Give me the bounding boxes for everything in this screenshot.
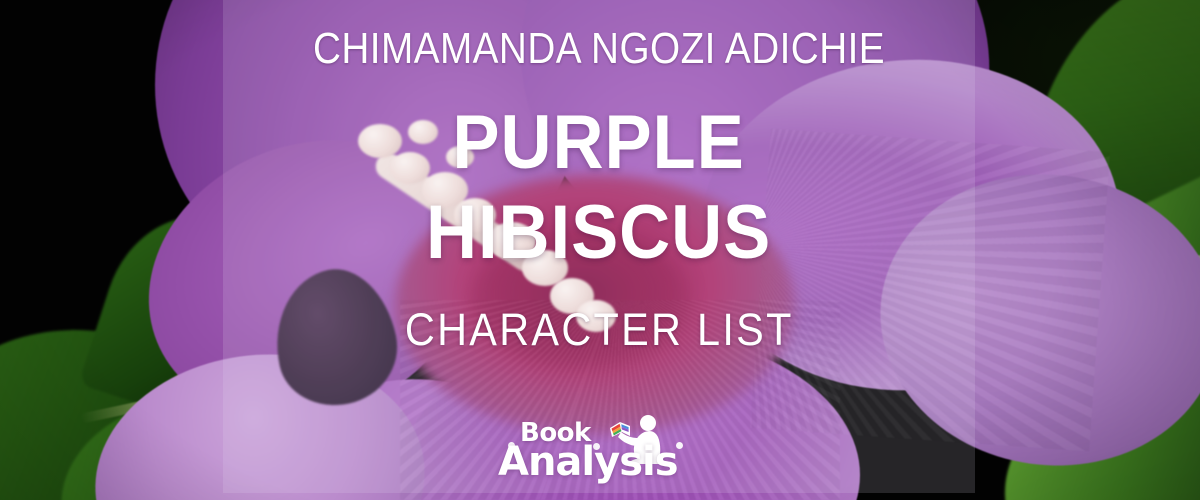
author-name: CHIMAMANDA NGOZI ADICHIE — [313, 27, 885, 71]
book-title-line-2: HIBISCUS — [426, 188, 771, 278]
book-title: PURPLE HIBISCUS — [426, 98, 771, 277]
logo-word-analysis: Analysis — [498, 442, 678, 482]
banner-subtitle: CHARACTER LIST — [405, 307, 794, 352]
book-cover-banner: CHIMAMANDA NGOZI ADICHIE PURPLE HIBISCUS… — [0, 0, 1200, 500]
book-title-line-1: PURPLE — [426, 98, 771, 188]
book-analysis-logo[interactable]: Book Analysis — [490, 416, 710, 492]
